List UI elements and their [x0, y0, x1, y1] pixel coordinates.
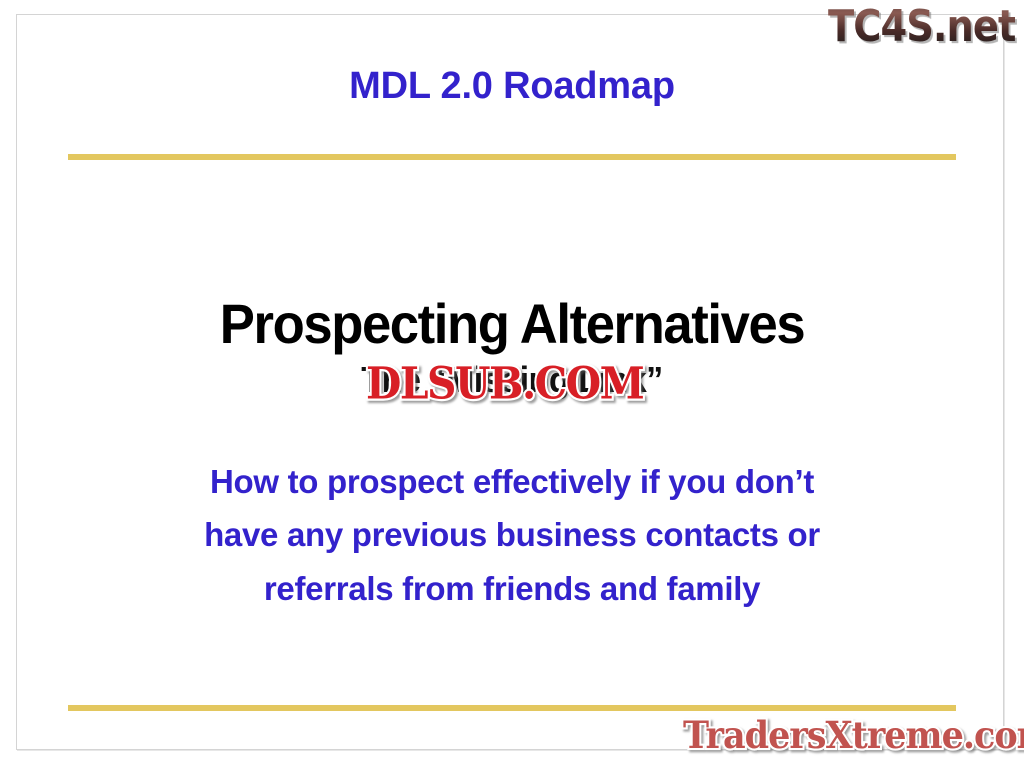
watermark-dlsub-com: DLSUB.COM	[366, 358, 643, 410]
watermark-tc4s-net: TC4S.net	[828, 2, 1015, 52]
divider-rule-top	[68, 154, 956, 160]
body-line-3: referrals from friends and family	[120, 562, 904, 615]
slide-title: MDL 2.0 Roadmap	[0, 66, 1024, 108]
body-line-2: have any previous business contacts or	[120, 508, 904, 561]
watermark-tradersxtreme-com: TradersXtreme.com	[683, 714, 1024, 757]
body-paragraph: How to prospect effectively if you don’t…	[120, 455, 904, 615]
body-line-1: How to prospect effectively if you don’t	[120, 455, 904, 508]
headline-prospecting-alternatives: Prospecting Alternatives	[31, 295, 994, 352]
divider-rule-bottom	[68, 705, 956, 711]
